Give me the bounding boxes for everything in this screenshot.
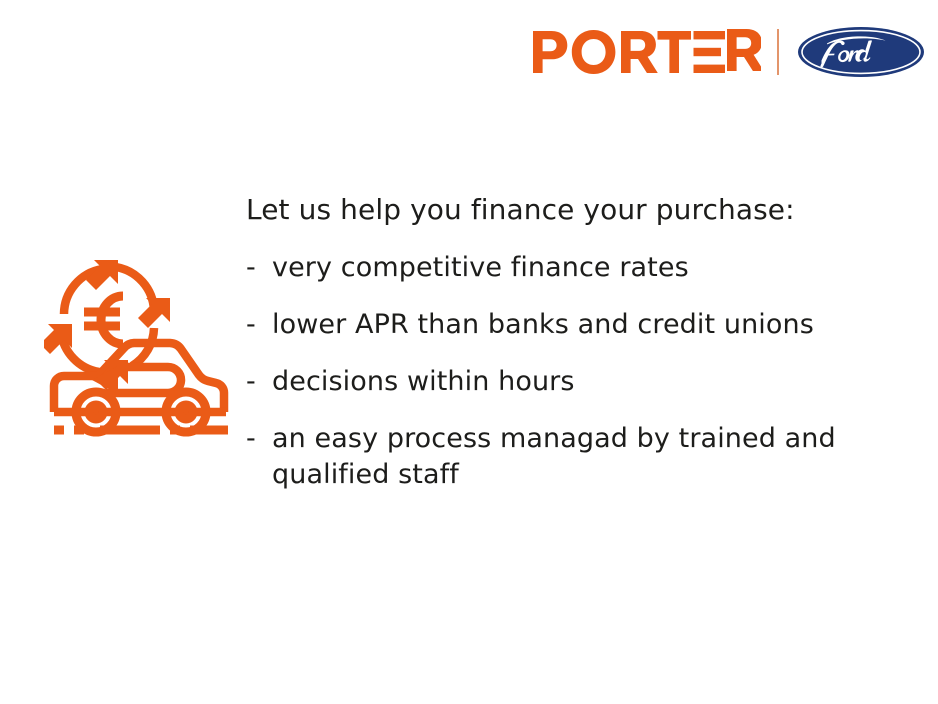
benefits-list: - very competitive finance rates - lower…: [246, 250, 886, 491]
list-item: - decisions within hours: [246, 364, 886, 399]
list-item: - very competitive finance rates: [246, 250, 886, 285]
list-item: - an easy process managad by trained and…: [246, 421, 886, 491]
bullet-marker: -: [246, 364, 272, 399]
list-item-label: lower APR than banks and credit unions: [272, 307, 886, 342]
car-euro-finance-icon: [44, 252, 234, 448]
ford-logo: [797, 26, 925, 78]
brand-lockup: [533, 24, 925, 80]
list-item-label: decisions within hours: [272, 364, 886, 399]
list-item-label: an easy process managad by trained and q…: [272, 421, 886, 491]
page-title: Let us help you finance your purchase:: [246, 193, 886, 227]
porter-logo: [533, 30, 729, 74]
brand-divider: [777, 29, 779, 75]
finance-slide: Let us help you finance your purchase: -…: [0, 0, 938, 704]
porter-logo-final-r: [727, 28, 761, 76]
bullet-marker: -: [246, 307, 272, 342]
list-item: - lower APR than banks and credit unions: [246, 307, 886, 342]
content-block: Let us help you finance your purchase: -…: [246, 193, 886, 492]
bullet-marker: -: [246, 250, 272, 285]
bullet-marker: -: [246, 421, 272, 456]
list-item-label: very competitive finance rates: [272, 250, 886, 285]
